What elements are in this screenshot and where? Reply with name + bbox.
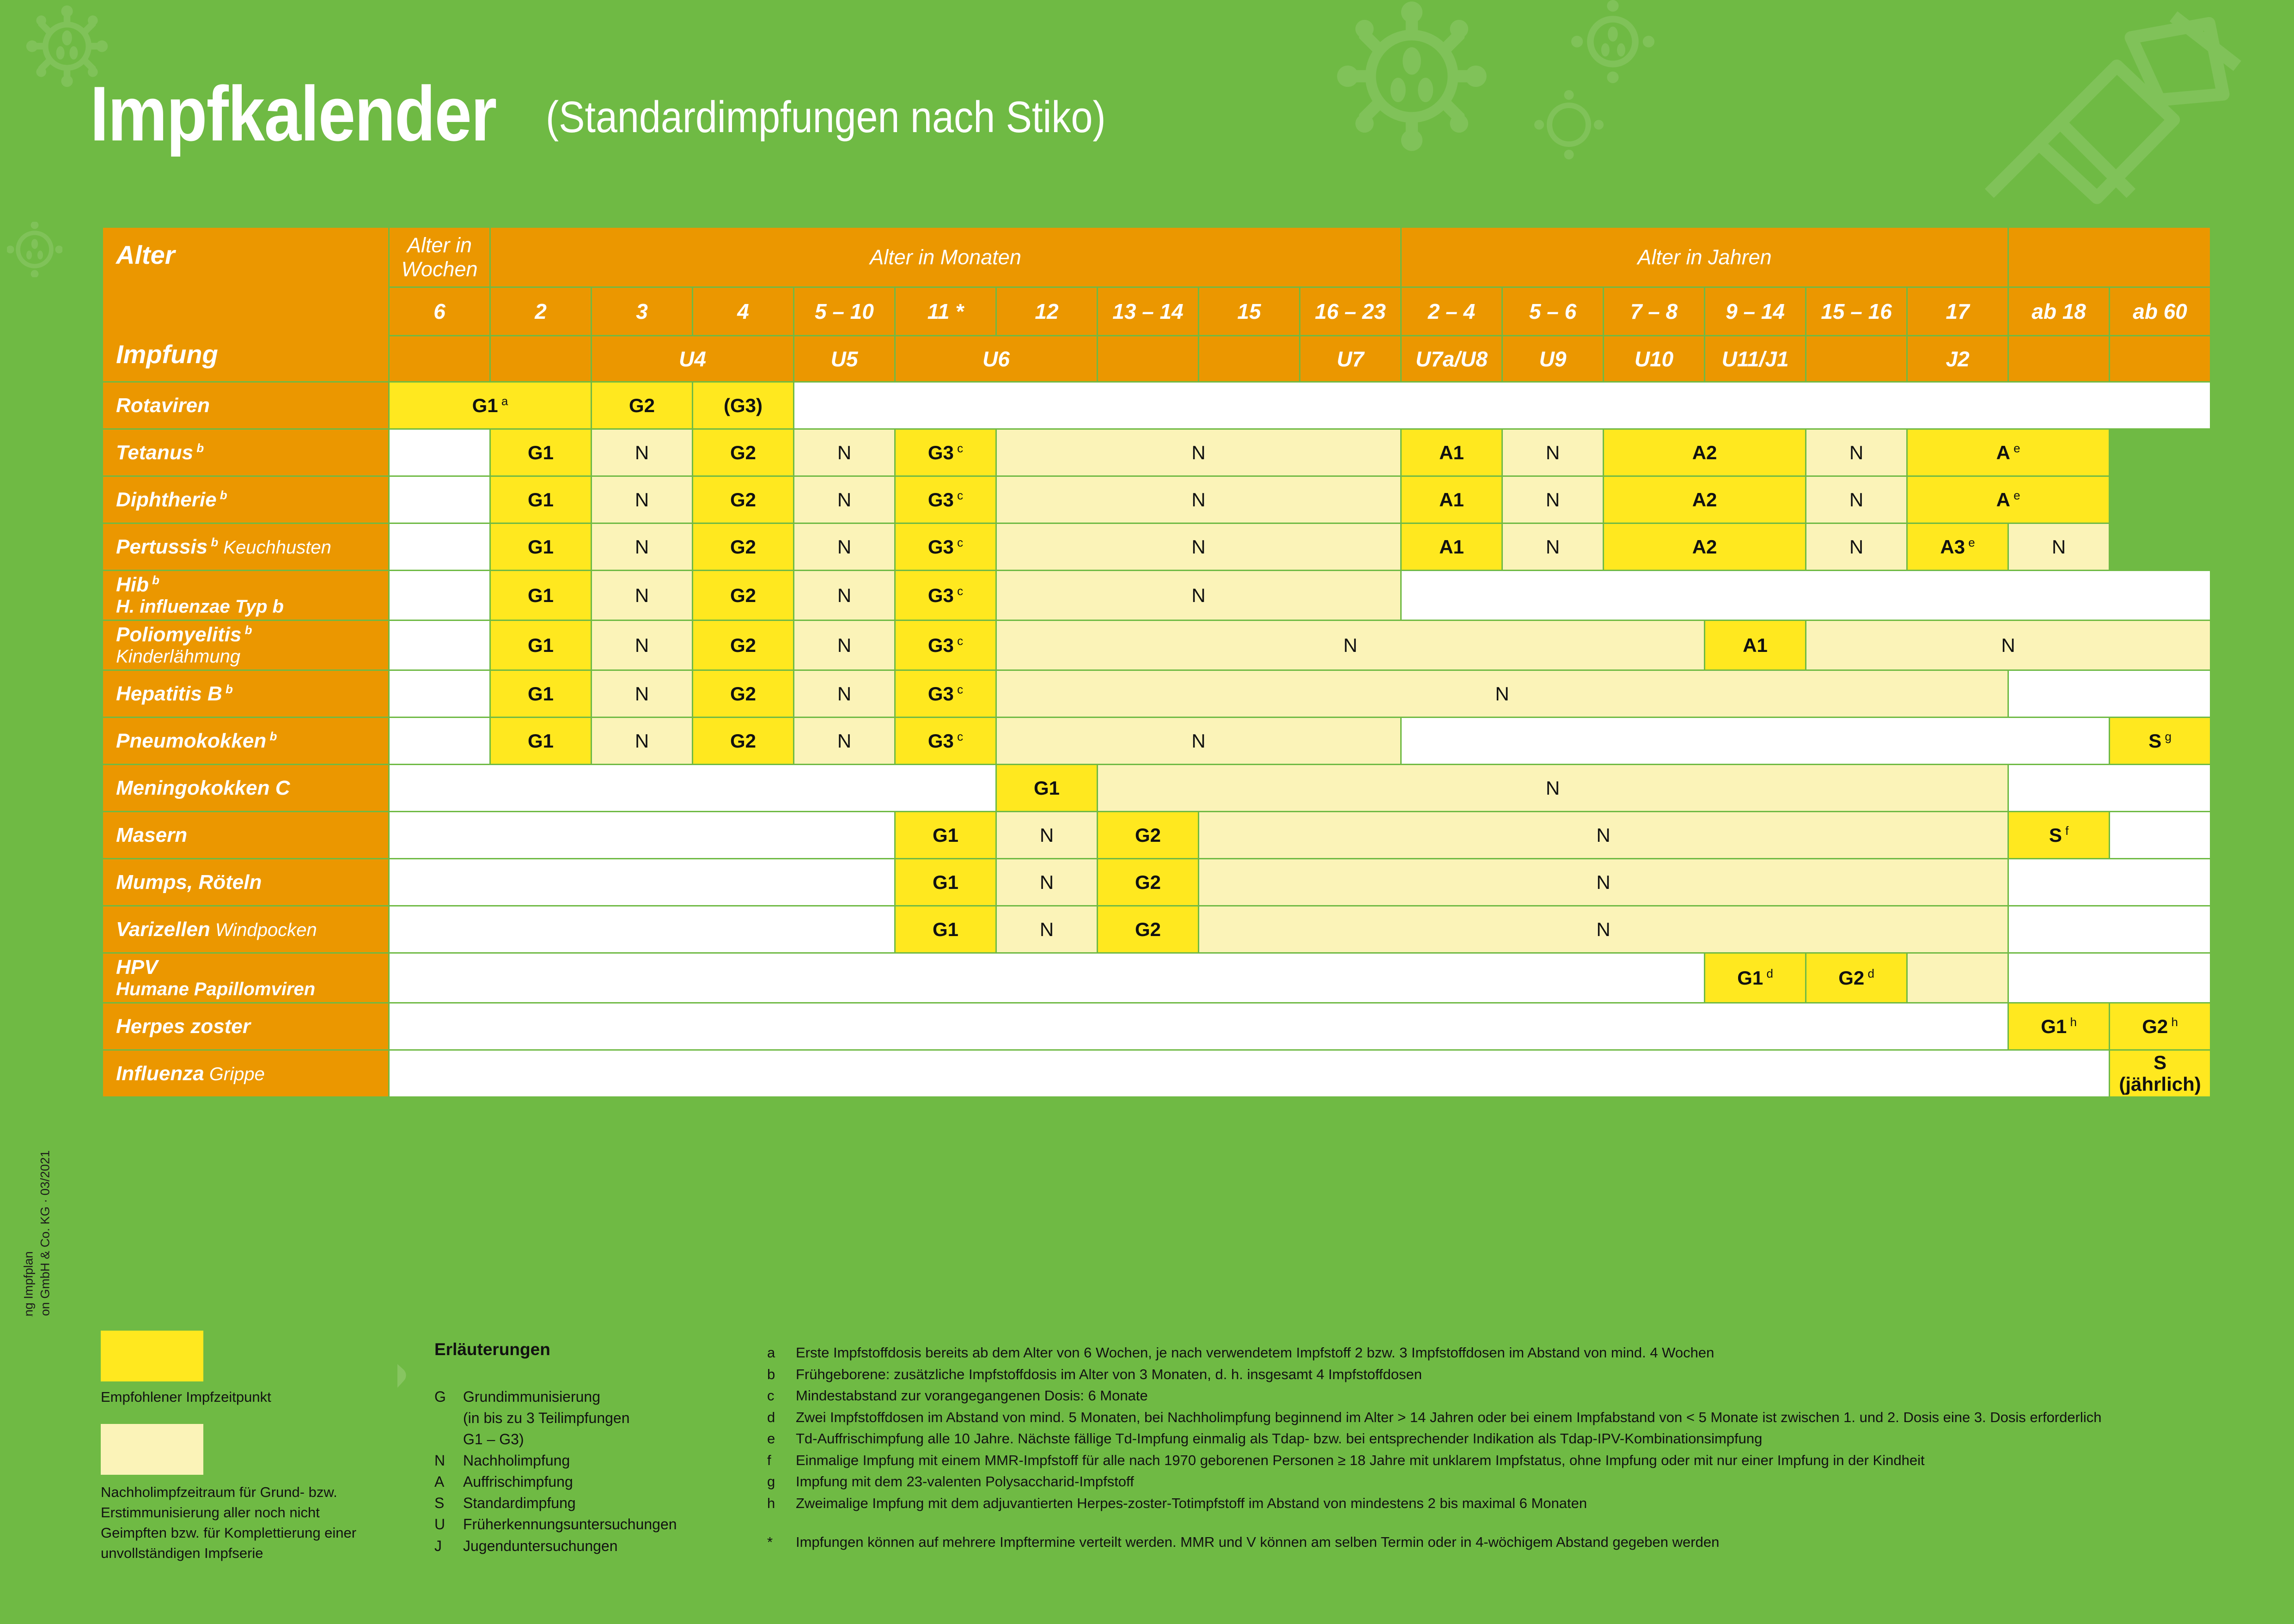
explanation-key [434,1429,463,1450]
cell-pertussis-4: N [794,523,895,571]
header-group-months: Alter in Monaten [490,227,1401,287]
header-group-blank [2008,227,2211,287]
cell-pertussis-9: A2 [1604,523,1806,571]
cell-masern-3: G2 [1098,812,1199,859]
explanation-value: (in bis zu 3 Teilimpfungen [463,1407,630,1429]
cell-pneumokokken-7 [1401,718,2110,765]
footnote-key: f [767,1450,796,1471]
swatch-catchup [101,1424,203,1475]
header-age-m13_14: 13 – 14 [1098,287,1199,336]
cell-poliomyelitis-1: G1 [490,620,592,670]
vaccine-label-hib: Hib bH. influenzae Typ b [103,571,389,620]
footnote-value: Frühgeborene: zusätzliche Impfstoffdosis… [796,1364,1422,1385]
table-row: Tetanus bG1NG2NG3 cNA1NA2NA e [103,429,2211,476]
footnote-value: Zweimalige Impfung mit dem adjuvantierte… [796,1493,1587,1514]
cell-tetanus-2: N [592,429,693,476]
syringe-icon-top-right [1959,9,2246,222]
cell-rotaviren-3 [794,382,2211,429]
footnote-key: b [767,1364,796,1385]
cell-herpes-zoster-0 [389,1003,2008,1050]
cell-pneumokokken-8: S g [2110,718,2211,765]
explanation-key: N [434,1450,463,1471]
cell-mumps-r-teln-4: N [1199,859,2008,906]
cell-diphtherie-8: N [1502,476,1604,523]
table-row: Meningokokken CG1N [103,765,2211,812]
cell-pneumokokken-6: N [996,718,1401,765]
cell-hepatitis-b-1: G1 [490,670,592,718]
footnote-item: hZweimalige Impfung mit dem adjuvantiert… [767,1493,2101,1514]
header-age-y17: 17 [1907,287,2008,336]
explanations-list: GGrundimmunisierung(in bis zu 3 Teilimpf… [434,1386,677,1557]
cell-poliomyelitis-2: N [592,620,693,670]
header-impfung-label: Impfung [116,339,388,369]
footnote-value: Zwei Impfstoffdosen im Abstand von mind.… [796,1407,2101,1428]
cell-varizellen-0 [389,906,895,953]
cell-diphtherie-0 [389,476,490,523]
cell-diphtherie-3: G2 [693,476,794,523]
cell-masern-0 [389,812,895,859]
cell-varizellen-1: G1 [895,906,996,953]
cell-varizellen-5 [2008,906,2211,953]
explanation-key [434,1407,463,1429]
cell-pertussis-7: A1 [1401,523,1502,571]
cell-hpv-4 [2008,953,2211,1003]
vaccine-label-poliomyelitis: Poliomyelitis bKinderlähmung [103,620,389,670]
cell-poliomyelitis-4: N [794,620,895,670]
footnote-item: cMindestabstand zur vorangegangenen Dosi… [767,1385,2101,1406]
cell-pneumokokken-1: G1 [490,718,592,765]
title-main: Impfkalender [90,69,496,158]
header-age-m12: 12 [996,287,1098,336]
header-exam-U5: U5 [794,336,895,382]
cell-influenza-0 [389,1050,2110,1097]
cell-pertussis-6: N [996,523,1401,571]
vaccine-label-pertussis: Pertussis b Keuchhusten [103,523,389,571]
header-row-age-numbers: 62345 – 1011 *1213 – 141516 – 232 – 45 –… [103,287,2211,336]
cell-hib-0 [389,571,490,620]
table-row: Herpes zosterG1 hG2 h [103,1003,2211,1050]
header-exam-blank-15 [2110,336,2211,382]
footnote-value: Erste Impfstoffdosis bereits ab dem Alte… [796,1342,1714,1363]
footnote-item: aErste Impfstoffdosis bereits ab dem Alt… [767,1342,2101,1363]
table-body: RotavirenG1 aG2(G3)Tetanus bG1NG2NG3 cNA… [103,382,2211,1097]
explanation-value: Jugenduntersuchungen [463,1535,618,1557]
footnote-key: a [767,1342,796,1363]
explanation-item: (in bis zu 3 Teilimpfungen [434,1407,677,1429]
cell-varizellen-2: N [996,906,1098,953]
cell-pneumokokken-3: G2 [693,718,794,765]
cell-pertussis-12: N [2008,523,2110,571]
header-age-m5_10: 5 – 10 [794,287,895,336]
header-age-m4: 4 [693,287,794,336]
cell-poliomyelitis-0 [389,620,490,670]
cell-hepatitis-b-6: N [996,670,2008,718]
cell-mumps-r-teln-3: G2 [1098,859,1199,906]
header-alter-impfung-corner: Alter Impfung [103,227,389,382]
header-age-m11: 11 * [895,287,996,336]
cell-poliomyelitis-3: G2 [693,620,794,670]
vaccine-label-varizellen: Varizellen Windpocken [103,906,389,953]
footnote-value: Mindestabstand zur vorangegangenen Dosis… [796,1385,1148,1406]
cell-poliomyelitis-7: A1 [1705,620,1806,670]
header-exam-blank-5 [1098,336,1199,382]
table-row: Pneumokokken bG1NG2NG3 cNS g [103,718,2211,765]
explanation-item: UFrüherkennungsuntersuchungen [434,1514,677,1535]
table-row: Varizellen WindpockenG1NG2N [103,906,2211,953]
header-exam-U9: U9 [1502,336,1604,382]
cell-mumps-r-teln-5 [2008,859,2211,906]
footnote-item: gImpfung mit dem 23-valenten Polysacchar… [767,1471,2101,1492]
header-exam-J2: J2 [1907,336,2008,382]
header-row-examinations: U4U5U6U7U7a/U8U9U10U11/J1J2 [103,336,2211,382]
cell-pneumokokken-0 [389,718,490,765]
cell-tetanus-4: N [794,429,895,476]
cell-hib-2: N [592,571,693,620]
header-age-y15_16: 15 – 16 [1806,287,1907,336]
header-age-y9_14: 9 – 14 [1705,287,1806,336]
vaccine-label-diphtherie: Diphtherie b [103,476,389,523]
table-row: Pertussis b KeuchhustenG1NG2NG3 cNA1NA2N… [103,523,2211,571]
cell-meningokokken-c-1: G1 [996,765,1098,812]
cell-pertussis-8: N [1502,523,1604,571]
vaccination-calendar-table: Alter Impfung Alter in Wochen Alter in M… [102,226,2211,1098]
footnote-item: dZwei Impfstoffdosen im Abstand von mind… [767,1407,2101,1428]
explanation-key: G [434,1386,463,1407]
explanation-item: AAuffrischimpfung [434,1471,677,1492]
header-exam-U6: U6 [895,336,1098,382]
cell-diphtherie-9: A2 [1604,476,1806,523]
cell-poliomyelitis-8: N [1806,620,2211,670]
vaccine-label-hpv: HPVHumane Papillomviren [103,953,389,1003]
cell-hepatitis-b-4: N [794,670,895,718]
header-age-y5_6: 5 – 6 [1502,287,1604,336]
explanation-value: Grundimmunisierung [463,1386,600,1407]
footnote-item: eTd-Auffrischimpfung alle 10 Jahre. Näch… [767,1428,2101,1449]
cell-rotaviren-0: G1 a [389,382,592,429]
footnote-star-item: *Impfungen können auf mehrere Impftermin… [767,1532,2101,1553]
virus-icon-upper-center [1534,90,1604,159]
cell-influenza-1: S (jährlich) [2110,1050,2211,1097]
cell-diphtherie-4: N [794,476,895,523]
cell-masern-4: N [1199,812,2008,859]
cell-masern-6 [2110,812,2211,859]
table-head: Alter Impfung Alter in Wochen Alter in M… [103,227,2211,382]
table-row: Mumps, RötelnG1NG2N [103,859,2211,906]
table-row: RotavirenG1 aG2(G3) [103,382,2211,429]
header-row-groups: Alter Impfung Alter in Wochen Alter in M… [103,227,2211,287]
footnotes-list: aErste Impfstoffdosis bereits ab dem Alt… [767,1342,2101,1553]
cell-pertussis-0 [389,523,490,571]
cell-herpes-zoster-1: G1 h [2008,1003,2110,1050]
cell-meningokokken-c-0 [389,765,996,812]
cell-diphtherie-10: N [1806,476,1907,523]
footnote-key: d [767,1407,796,1428]
header-exam-U10: U10 [1604,336,1705,382]
header-age-m16_23: 16 – 23 [1300,287,1401,336]
header-age-m2: 2 [490,287,592,336]
cell-hpv-3 [1907,953,2008,1003]
vaccine-label-pneumokokken: Pneumokokken b [103,718,389,765]
table-row: Diphtherie bG1NG2NG3 cNA1NA2NA e [103,476,2211,523]
cell-masern-1: G1 [895,812,996,859]
swatch-recommended-label: Empfohlener Impfzeitpunkt [101,1389,378,1405]
header-age-m3: 3 [592,287,693,336]
footnote-value: Impfung mit dem 23-valenten Polysacchari… [796,1471,1134,1492]
explanation-value: Auffrischimpfung [463,1471,573,1492]
vaccine-label-influenza: Influenza Grippe [103,1050,389,1097]
header-exam-U4: U4 [592,336,794,382]
vaccine-label-masern: Masern [103,812,389,859]
cell-pertussis-11: A3 e [1907,523,2008,571]
table-row: MasernG1NG2NS f [103,812,2211,859]
cell-hib-6: N [996,571,1401,620]
cell-tetanus-0 [389,429,490,476]
table-row: Poliomyelitis bKinderlähmungG1NG2NG3 cNA… [103,620,2211,670]
explanation-value: Standardimpfung [463,1492,576,1514]
table-row: HPVHumane PapillomvirenG1 dG2 d [103,953,2211,1003]
swatch-catchup-label: Nachholimpfzeitraum für Grund- bzw. Erst… [101,1482,364,1563]
cell-tetanus-11: A e [1907,429,2110,476]
table-row: Hib bH. influenzae Typ bG1NG2NG3 cN [103,571,2211,620]
cell-hpv-0 [389,953,1705,1003]
cell-mumps-r-teln-1: G1 [895,859,996,906]
cell-diphtherie-7: A1 [1401,476,1502,523]
explanation-key: S [434,1492,463,1514]
cell-tetanus-8: N [1502,429,1604,476]
cell-hpv-1: G1 d [1705,953,1806,1003]
footnote-star-key: * [767,1532,796,1553]
explanation-value: Nachholimpfung [463,1450,570,1471]
cell-hpv-2: G2 d [1806,953,1907,1003]
cell-rotaviren-1: G2 [592,382,693,429]
header-group-weeks: Alter in Wochen [389,227,490,287]
cell-tetanus-5: G3 c [895,429,996,476]
cell-hepatitis-b-3: G2 [693,670,794,718]
cell-mumps-r-teln-0 [389,859,895,906]
explanation-item: G1 – G3) [434,1429,677,1450]
header-exam-U7: U7 [1300,336,1401,382]
cell-hepatitis-b-2: N [592,670,693,718]
cell-meningokokken-c-2: N [1098,765,2008,812]
vaccine-label-tetanus: Tetanus b [103,429,389,476]
cell-pneumokokken-5: G3 c [895,718,996,765]
explanation-value: G1 – G3) [463,1429,524,1450]
cell-hib-1: G1 [490,571,592,620]
virus-icon-top-right [1571,0,1654,83]
explanation-item: SStandardimpfung [434,1492,677,1514]
header-age-ab60: ab 60 [2110,287,2211,336]
header-exam-blank-12 [1806,336,1907,382]
vaccine-label-rotaviren: Rotaviren [103,382,389,429]
header-age-ab18: ab 18 [2008,287,2110,336]
footnote-value: Td-Auffrischimpfung alle 10 Jahre. Nächs… [796,1428,1762,1449]
header-exam-U7a-U8: U7a/U8 [1401,336,1502,382]
header-exam-U11-J1: U11/J1 [1705,336,1806,382]
page-title: Impfkalender (Standardimpfungen nach Sti… [90,69,1182,158]
footnote-key: c [767,1385,796,1406]
cell-tetanus-9: A2 [1604,429,1806,476]
cell-diphtherie-2: N [592,476,693,523]
table-row: Influenza GrippeS (jährlich) [103,1050,2211,1097]
explanation-item: GGrundimmunisierung [434,1386,677,1407]
cell-diphtherie-5: G3 c [895,476,996,523]
cell-hepatitis-b-0 [389,670,490,718]
cell-hib-7 [1401,571,2211,620]
cell-tetanus-6: N [996,429,1401,476]
cell-pneumokokken-2: N [592,718,693,765]
cell-varizellen-4: N [1199,906,2008,953]
cell-hib-5: G3 c [895,571,996,620]
cell-diphtherie-1: G1 [490,476,592,523]
header-age-w6: 6 [389,287,490,336]
header-age-y2_4: 2 – 4 [1401,287,1502,336]
explanation-value: Früherkennungsuntersuchungen [463,1514,677,1535]
cell-hepatitis-b-5: G3 c [895,670,996,718]
footnote-star-value: Impfungen können auf mehrere Impftermine… [796,1532,1719,1553]
cell-pertussis-1: G1 [490,523,592,571]
footnote-key: h [767,1493,796,1514]
footnote-key: g [767,1471,796,1492]
header-age-m15: 15 [1199,287,1300,336]
cell-hib-4: N [794,571,895,620]
footnote-item: bFrühgeborene: zusätzliche Impfstoffdosi… [767,1364,2101,1385]
cell-pneumokokken-4: N [794,718,895,765]
cell-poliomyelitis-5: G3 c [895,620,996,670]
footnote-item: fEinmalige Impfung mit einem MMR-Impfsto… [767,1450,2101,1471]
cell-herpes-zoster-2: G2 h [2110,1003,2211,1050]
footnote-value: Einmalige Impfung mit einem MMR-Impfstof… [796,1450,1925,1471]
cell-tetanus-10: N [1806,429,1907,476]
explanation-key: U [434,1514,463,1535]
header-exam-blank-1 [490,336,592,382]
cell-tetanus-1: G1 [490,429,592,476]
cell-mumps-r-teln-2: N [996,859,1098,906]
virus-icon-left-small [7,222,62,277]
swatch-recommended [101,1331,203,1381]
cell-pertussis-10: N [1806,523,1907,571]
vaccine-label-meningokokken-c: Meningokokken C [103,765,389,812]
explanation-key: A [434,1471,463,1492]
explanation-key: J [434,1535,463,1557]
cell-poliomyelitis-6: N [996,620,1705,670]
header-exam-blank-14 [2008,336,2110,382]
header-exam-blank-0 [389,336,490,382]
header-group-years: Alter in Jahren [1401,227,2008,287]
header-alter-label: Alter [116,240,388,270]
cell-masern-2: N [996,812,1098,859]
title-subtitle: (Standardimpfungen nach Stiko) [546,92,1106,143]
header-exam-blank-6 [1199,336,1300,382]
explanation-item: NNachholimpfung [434,1450,677,1471]
footnote-key: e [767,1428,796,1449]
table-row: Hepatitis B bG1NG2NG3 cN [103,670,2211,718]
cell-masern-5: S f [2008,812,2110,859]
cell-pertussis-3: G2 [693,523,794,571]
cell-tetanus-3: G2 [693,429,794,476]
cell-hib-3: G2 [693,571,794,620]
vaccine-label-hepatitis-b: Hepatitis B b [103,670,389,718]
cell-pertussis-2: N [592,523,693,571]
explanations-title: Erläuterungen [434,1340,550,1359]
cell-diphtherie-6: N [996,476,1401,523]
cell-tetanus-7: A1 [1401,429,1502,476]
vaccine-label-herpes-zoster: Herpes zoster [103,1003,389,1050]
cell-rotaviren-2: (G3) [693,382,794,429]
cell-pertussis-5: G3 c [895,523,996,571]
header-age-y7_8: 7 – 8 [1604,287,1705,336]
cell-diphtherie-11: A e [1907,476,2110,523]
explanation-item: JJugenduntersuchungen [434,1535,677,1557]
cell-meningokokken-c-3 [2008,765,2211,812]
cell-varizellen-3: G2 [1098,906,1199,953]
cell-hepatitis-b-7 [2008,670,2211,718]
virus-icon-top-center [1336,0,1488,152]
vaccine-label-mumps-r-teln: Mumps, Röteln [103,859,389,906]
